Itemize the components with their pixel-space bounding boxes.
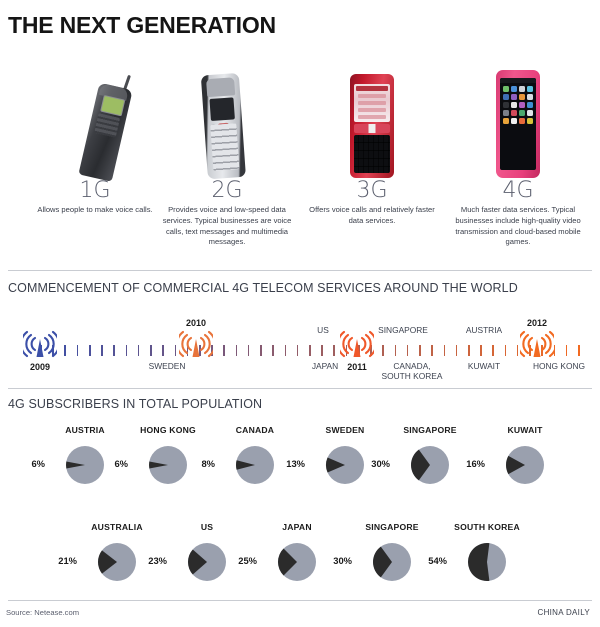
timeline-tick [150, 345, 152, 356]
timeline-country-label: JAPAN [312, 362, 338, 372]
timeline-tick [309, 345, 311, 356]
pies-row-2: AUSTRALIA21%US23%JAPAN25%SINGAPORE30%SOU… [0, 522, 600, 612]
pie-country-label: SINGAPORE [365, 522, 418, 532]
brand-credit: CHINA DAILY [538, 608, 591, 617]
timeline-country-label: SINGAPORE [378, 326, 428, 336]
pie-percentage-label: 30% [333, 555, 352, 566]
divider-top-timeline [8, 270, 592, 271]
timeline-tick [138, 345, 140, 356]
generation-label-4g: 4G [438, 180, 598, 202]
pie-country-label: KUWAIT [507, 425, 542, 435]
signal-tower-icon [179, 330, 213, 360]
pie-country-label: US [201, 522, 213, 532]
pie-percentage-label: 8% [201, 458, 215, 469]
pie-percentage-label: 25% [238, 555, 257, 566]
timeline-year-2012: 2012 [527, 318, 547, 328]
timeline-tick [248, 345, 250, 356]
timeline-axis [0, 342, 600, 358]
pie-graphic [322, 445, 368, 485]
timeline-tick [333, 345, 335, 356]
timeline-tick [236, 345, 238, 356]
phone-3g-qwerty-illustration [297, 50, 447, 178]
generation-desc-2g: Provides voice and low-speed data servic… [152, 205, 302, 248]
generation-label-2g: 2G [152, 180, 302, 202]
generations-row: 1G Allows people to make voice calls. 2G… [0, 50, 600, 258]
generation-item-4g: 4G Much faster data services. Typical bu… [438, 50, 598, 248]
timeline-tick [89, 345, 91, 356]
timeline-tick [456, 345, 458, 356]
timeline-country-label: SWEDEN [149, 362, 186, 372]
pie-graphic [502, 445, 548, 485]
timeline-tick [492, 345, 494, 356]
generation-item-2g: 2G Provides voice and low-speed data ser… [152, 50, 302, 248]
pie-percentage-label: 30% [371, 458, 390, 469]
pie-percentage-label: 13% [286, 458, 305, 469]
timeline-heading: COMMENCEMENT OF COMMERCIAL 4G TELECOM SE… [8, 281, 518, 295]
subscribers-heading: 4G SUBSCRIBERS IN TOTAL POPULATION [8, 397, 262, 411]
pies-row-1: AUSTRIA6%HONG KONG6%CANADA8%SWEDEN13%SIN… [0, 425, 600, 515]
timeline-tick [382, 345, 384, 356]
timeline-country-label: CANADA,SOUTH KOREA [382, 362, 443, 381]
timeline-country-label: HONG KONG [533, 362, 585, 372]
pie-graphic [62, 445, 108, 485]
signal-tower-icon [340, 330, 374, 360]
timeline-country-label: AUSTRIA [466, 326, 502, 336]
timeline-tick [566, 345, 568, 356]
generation-item-3g: 3G Offers voice calls and relatively fas… [297, 50, 447, 227]
timeline-tick [321, 345, 323, 356]
pie-percentage-label: 16% [466, 458, 485, 469]
timeline-tick [285, 345, 287, 356]
divider-top-subscribers [8, 388, 592, 389]
generation-label-3g: 3G [297, 180, 447, 202]
pie-graphic [184, 542, 230, 582]
timeline-tick [444, 345, 446, 356]
pie-graphic [232, 445, 278, 485]
timeline-country-label: KUWAIT [468, 362, 500, 372]
timeline-year-2010: 2010 [186, 318, 206, 328]
timeline-tick [162, 345, 164, 356]
divider-footer [8, 600, 592, 601]
timeline-tick [419, 345, 421, 356]
pie-country-label: AUSTRIA [65, 425, 105, 435]
timeline-tick [113, 345, 115, 356]
pie-country-label: HONG KONG [140, 425, 196, 435]
pie-graphic [369, 542, 415, 582]
timeline-tick [64, 345, 66, 356]
pie-country-label: CANADA [236, 425, 274, 435]
timeline-tick [517, 345, 519, 356]
generation-item-1g: 1G Allows people to make voice calls. [20, 50, 170, 216]
generation-desc-3g: Offers voice calls and relatively faster… [297, 205, 447, 227]
timeline-tick [395, 345, 397, 356]
timeline-tick [175, 345, 177, 356]
signal-tower-icon [23, 330, 57, 360]
pie-percentage-label: 21% [58, 555, 77, 566]
pie-percentage-label: 23% [148, 555, 167, 566]
timeline-tick [260, 345, 262, 356]
pie-percentage-label: 6% [114, 458, 128, 469]
generation-label-1g: 1G [20, 180, 170, 202]
pie-country-label: JAPAN [282, 522, 312, 532]
phone-2g-bar-illustration [152, 50, 302, 178]
pie-graphic [407, 445, 453, 485]
timeline-country-label: US [317, 326, 329, 336]
pie-country-label: SWEDEN [326, 425, 365, 435]
pie-graphic [145, 445, 191, 485]
phone-1g-candybar-illustration [20, 50, 170, 178]
timeline-tick [126, 345, 128, 356]
pie-graphic [94, 542, 140, 582]
pie-country-label: AUSTRALIA [91, 522, 142, 532]
pie-graphic [464, 542, 510, 582]
timeline-year-2009: 2009 [30, 362, 50, 372]
timeline-tick [407, 345, 409, 356]
page-title: THE NEXT GENERATION [8, 12, 276, 39]
timeline-tick [468, 345, 470, 356]
timeline-tick [101, 345, 103, 356]
timeline-tick [77, 345, 79, 356]
timeline-tick [223, 345, 225, 356]
pie-graphic [274, 542, 320, 582]
timeline-year-2011: 2011 [347, 362, 367, 372]
timeline-tick [480, 345, 482, 356]
timeline-tick [578, 345, 580, 356]
source-credit: Source: Netease.com [6, 608, 79, 617]
generation-desc-1g: Allows people to make voice calls. [20, 205, 170, 216]
timeline-tick [297, 345, 299, 356]
pie-country-label: SINGAPORE [403, 425, 456, 435]
timeline-tick [272, 345, 274, 356]
phone-4g-touchscreen-illustration [438, 50, 598, 178]
timeline-section: 2009201020112012 USSINGAPOREAUSTRIA SWED… [0, 312, 600, 384]
pie-percentage-label: 54% [428, 555, 447, 566]
generation-desc-4g: Much faster data services. Typical busin… [438, 205, 598, 248]
pie-country-label: SOUTH KOREA [454, 522, 520, 532]
timeline-tick [505, 345, 507, 356]
pie-percentage-label: 6% [31, 458, 45, 469]
signal-tower-icon [520, 330, 554, 360]
timeline-tick [431, 345, 433, 356]
